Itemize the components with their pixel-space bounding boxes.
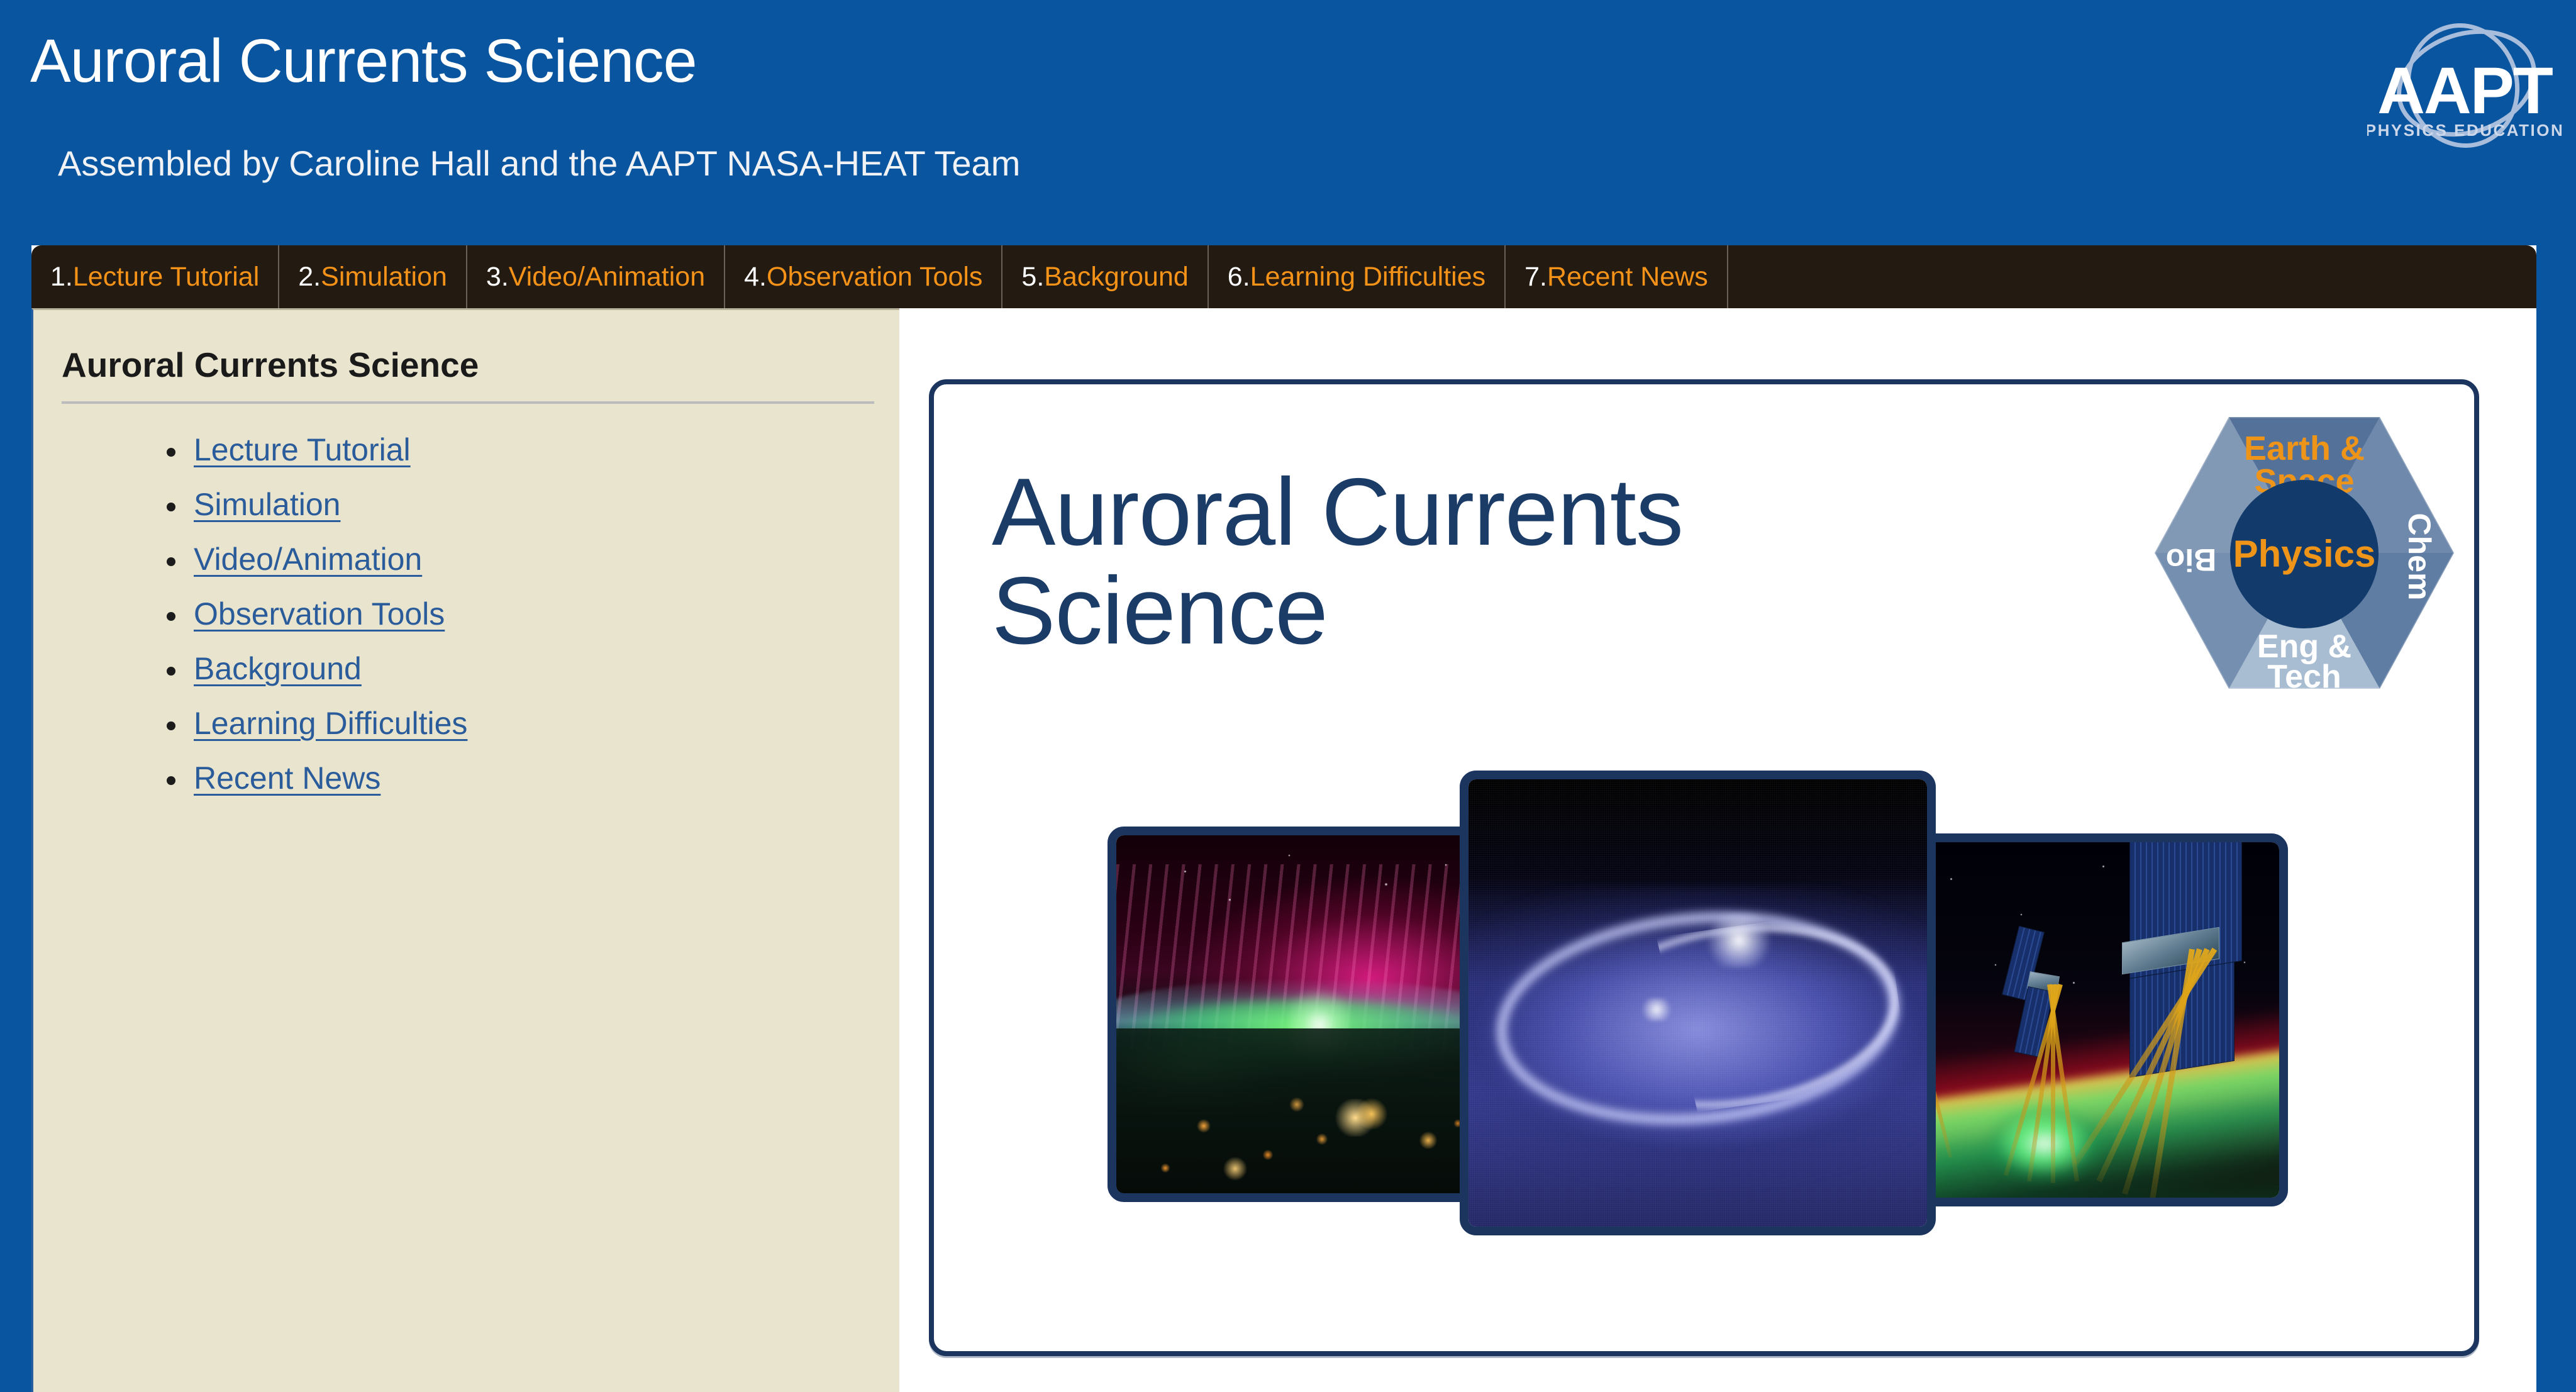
sidebar-item-learning-difficulties[interactable]: Learning Difficulties <box>194 708 467 739</box>
hexagon-disciplines-logo: Earth & Space Bio Chem Eng & Tech Physic… <box>2153 408 2455 698</box>
nav-item-number: 7. <box>1524 264 1547 291</box>
nav-item-number: 1. <box>50 264 73 291</box>
main-navigation: 1. Lecture Tutorial 2. Simulation 3. Vid… <box>31 245 2536 308</box>
svg-text:AAPT: AAPT <box>2377 54 2553 128</box>
page-title: Auroral Currents Science <box>30 30 697 91</box>
sidebar-item-lecture-tutorial[interactable]: Lecture Tutorial <box>194 434 411 465</box>
nav-item-recent-news[interactable]: 7. Recent News <box>1506 245 1728 308</box>
aapt-logo[interactable]: AAPT PHYSICS EDUCATION <box>2367 9 2562 169</box>
nav-item-label: Lecture Tutorial <box>73 264 259 291</box>
content-shell: Auroral Currents Science Lecture Tutoria… <box>31 308 2536 1392</box>
list-item: Observation Tools <box>33 598 899 630</box>
banner-title-line-2: Science <box>992 562 1683 660</box>
svg-text:Physics: Physics <box>2233 533 2376 575</box>
nav-item-learning-difficulties[interactable]: 6. Learning Difficulties <box>1209 245 1506 308</box>
nav-item-label: Observation Tools <box>767 264 982 291</box>
nav-item-label: Background <box>1044 264 1189 291</box>
list-item: Learning Difficulties <box>33 708 899 739</box>
nav-item-observation-tools[interactable]: 4. Observation Tools <box>725 245 1002 308</box>
nav-item-label: Recent News <box>1547 264 1708 291</box>
list-item: Recent News <box>33 762 899 794</box>
sidebar: Auroral Currents Science Lecture Tutoria… <box>31 308 899 1392</box>
nav-filler <box>1728 245 2536 308</box>
nav-item-simulation[interactable]: 2. Simulation <box>279 245 467 308</box>
aurora-from-space-photo[interactable] <box>1108 827 1501 1202</box>
svg-text:Earth &: Earth & <box>2244 430 2365 467</box>
nav-item-label: Learning Difficulties <box>1250 264 1485 291</box>
site-header: Auroral Currents Science Assembled by Ca… <box>0 0 2576 245</box>
sidebar-item-video-animation[interactable]: Video/Animation <box>194 543 422 575</box>
auroral-oval-uv-image[interactable] <box>1460 771 1936 1235</box>
page-subtitle: Assembled by Caroline Hall and the AAPT … <box>58 146 1020 181</box>
nav-item-background[interactable]: 5. Background <box>1002 245 1208 308</box>
nav-item-lecture-tutorial[interactable]: 1. Lecture Tutorial <box>31 245 279 308</box>
nav-item-label: Video/Animation <box>509 264 705 291</box>
svg-text:Tech: Tech <box>2267 659 2341 695</box>
content-area: Auroral Currents Science Lecture Tutoria… <box>0 308 2576 1392</box>
main-content: Auroral Currents Science <box>899 308 2536 1392</box>
hero-banner-card: Auroral Currents Science <box>929 379 2479 1356</box>
sidebar-title: Auroral Currents Science <box>33 310 899 382</box>
sidebar-item-simulation[interactable]: Simulation <box>194 489 340 520</box>
list-item: Lecture Tutorial <box>33 434 899 465</box>
page-root: Auroral Currents Science Assembled by Ca… <box>0 0 2576 1392</box>
sidebar-item-observation-tools[interactable]: Observation Tools <box>194 598 445 630</box>
list-item: Video/Animation <box>33 543 899 575</box>
svg-text:Chem: Chem <box>2402 513 2437 601</box>
nav-item-number: 4. <box>744 264 767 291</box>
nav-item-label: Simulation <box>321 264 447 291</box>
list-item: Simulation <box>33 489 899 520</box>
banner-title-line-1: Auroral Currents <box>992 463 1683 562</box>
satellite-constellation-illustration[interactable] <box>1896 833 2288 1206</box>
sidebar-link-list: Lecture Tutorial Simulation Video/Animat… <box>33 404 899 794</box>
sidebar-item-background[interactable]: Background <box>194 653 362 684</box>
nav-item-number: 3. <box>486 264 509 291</box>
nav-item-number: 5. <box>1021 264 1044 291</box>
nav-item-number: 6. <box>1228 264 1250 291</box>
svg-text:PHYSICS EDUCATION: PHYSICS EDUCATION <box>2367 121 2562 140</box>
nav-item-video-animation[interactable]: 3. Video/Animation <box>467 245 725 308</box>
svg-text:Bio: Bio <box>2166 542 2217 577</box>
sidebar-item-recent-news[interactable]: Recent News <box>194 762 380 794</box>
list-item: Background <box>33 653 899 684</box>
banner-title: Auroral Currents Science <box>992 463 1683 660</box>
nav-item-number: 2. <box>298 264 321 291</box>
